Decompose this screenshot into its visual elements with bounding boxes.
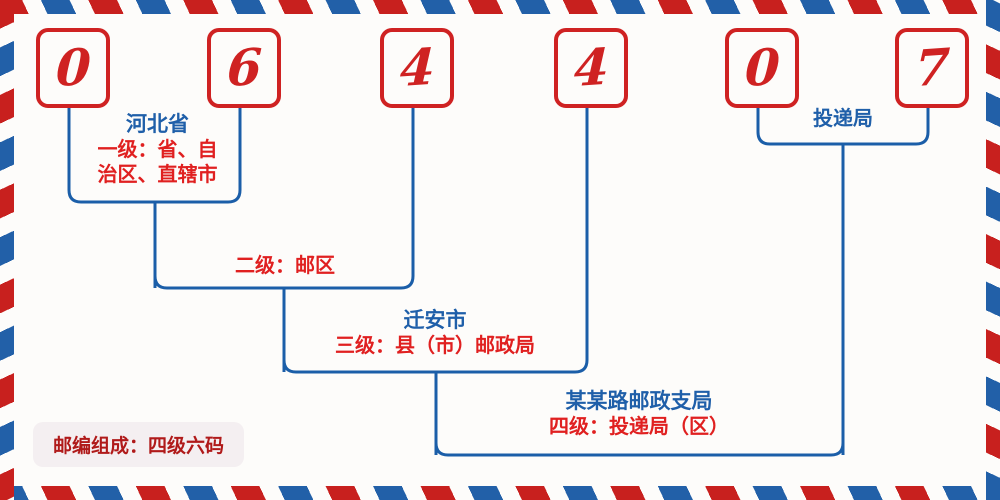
digit-glyph: 4	[573, 42, 610, 94]
level-1-label: 河北省 一级：省、自 治区、直辖市	[75, 111, 240, 187]
level-1-subtitle-line2: 治区、直辖市	[75, 162, 240, 187]
level-2-subtitle: 二级：邮区	[170, 253, 400, 278]
digit-glyph: 6	[226, 42, 263, 94]
postcode-digit-6[interactable]: 7	[895, 28, 969, 108]
postcode-digit-2[interactable]: 6	[207, 28, 281, 108]
level-2-label: 二级：邮区	[170, 253, 400, 278]
level-3-title: 迁安市	[295, 307, 575, 333]
envelope-diagram: 0 6 4 4 0 7 河北省 一级：省、自 治区、直辖市 投递局 二级：邮区 …	[0, 0, 1000, 500]
level-4-title: 某某路邮政支局	[448, 388, 830, 414]
postcode-digit-5[interactable]: 0	[725, 28, 799, 108]
digit-glyph: 0	[744, 42, 781, 94]
postcode-digit-3[interactable]: 4	[380, 28, 454, 108]
postcode-digit-1[interactable]: 0	[36, 28, 110, 108]
digit-glyph: 4	[399, 42, 436, 94]
digit-glyph: 0	[55, 42, 92, 94]
digit-glyph: 7	[914, 42, 951, 94]
level-4-subtitle: 四级：投递局（区）	[448, 414, 830, 439]
level-3-label: 迁安市 三级：县（市）邮政局	[295, 307, 575, 358]
delivery-office-title: 投递局	[763, 106, 923, 131]
postcode-composition-note: 邮编组成：四级六码	[33, 422, 244, 467]
delivery-office-label: 投递局	[763, 106, 923, 131]
level-1-subtitle-line1: 一级：省、自	[75, 137, 240, 162]
level-4-label: 某某路邮政支局 四级：投递局（区）	[448, 388, 830, 439]
postcode-composition-text: 邮编组成：四级六码	[53, 435, 224, 457]
level-3-subtitle: 三级：县（市）邮政局	[295, 333, 575, 358]
postcode-digit-4[interactable]: 4	[554, 28, 628, 108]
level-1-title: 河北省	[75, 111, 240, 137]
